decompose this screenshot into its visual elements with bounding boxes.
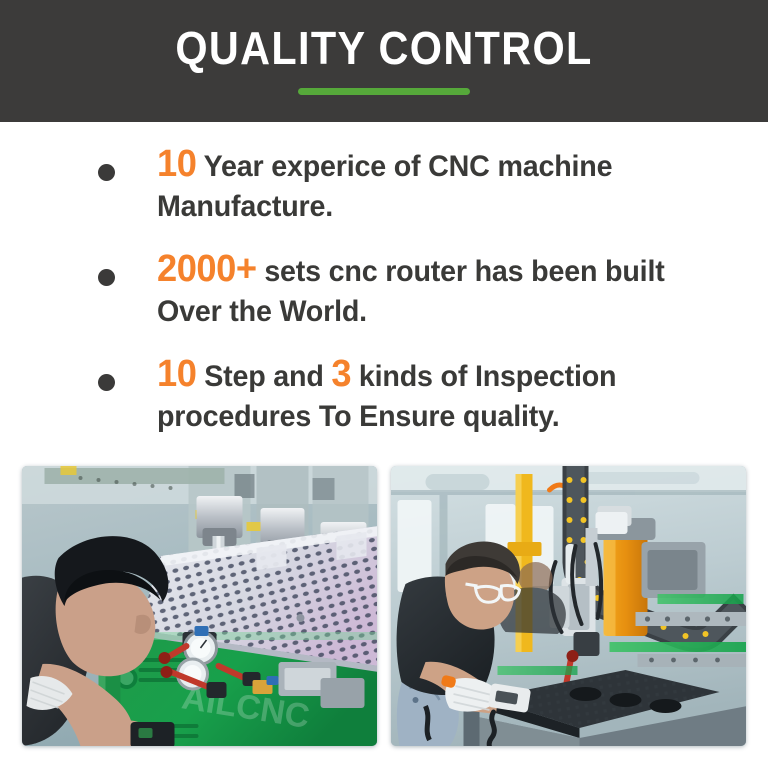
feature-text-3: 10 Step and 3 kinds of Inspection proced… [157, 354, 714, 437]
feature-body-1: Year experice of CNC machine Manufacture… [157, 150, 612, 223]
list-item: 10 Year experice of CNC machine Manufact… [28, 144, 740, 227]
page-header: QUALITY CONTROL [0, 0, 768, 122]
photo-gallery: AILCNC [0, 466, 768, 768]
feature-highlight-number-1: 10 [157, 143, 196, 185]
feature-highlight-number-2: 2000+ [157, 248, 257, 290]
feature-highlight-number-3a: 10 [157, 353, 196, 395]
feature-highlight-number-3b: 3 [331, 353, 351, 395]
title-underline-rule [298, 88, 470, 95]
list-item: 2000+ sets cnc router has been built Ove… [28, 249, 740, 332]
page-title: QUALITY CONTROL [38, 22, 729, 74]
bullet-dot-icon [98, 164, 115, 181]
feature-body-3a: Step and [196, 360, 331, 393]
photo-worker-operating-cnc-machine [391, 466, 746, 746]
feature-list: 10 Year experice of CNC machine Manufact… [0, 122, 768, 466]
feature-text-2: 2000+ sets cnc router has been built Ove… [157, 249, 714, 332]
list-item: 10 Step and 3 kinds of Inspection proced… [28, 354, 740, 437]
photo-technician-inspecting-cnc-table: AILCNC [22, 466, 377, 746]
bullet-dot-icon [98, 269, 115, 286]
feature-text-1: 10 Year experice of CNC machine Manufact… [157, 144, 714, 227]
bullet-dot-icon [98, 374, 115, 391]
